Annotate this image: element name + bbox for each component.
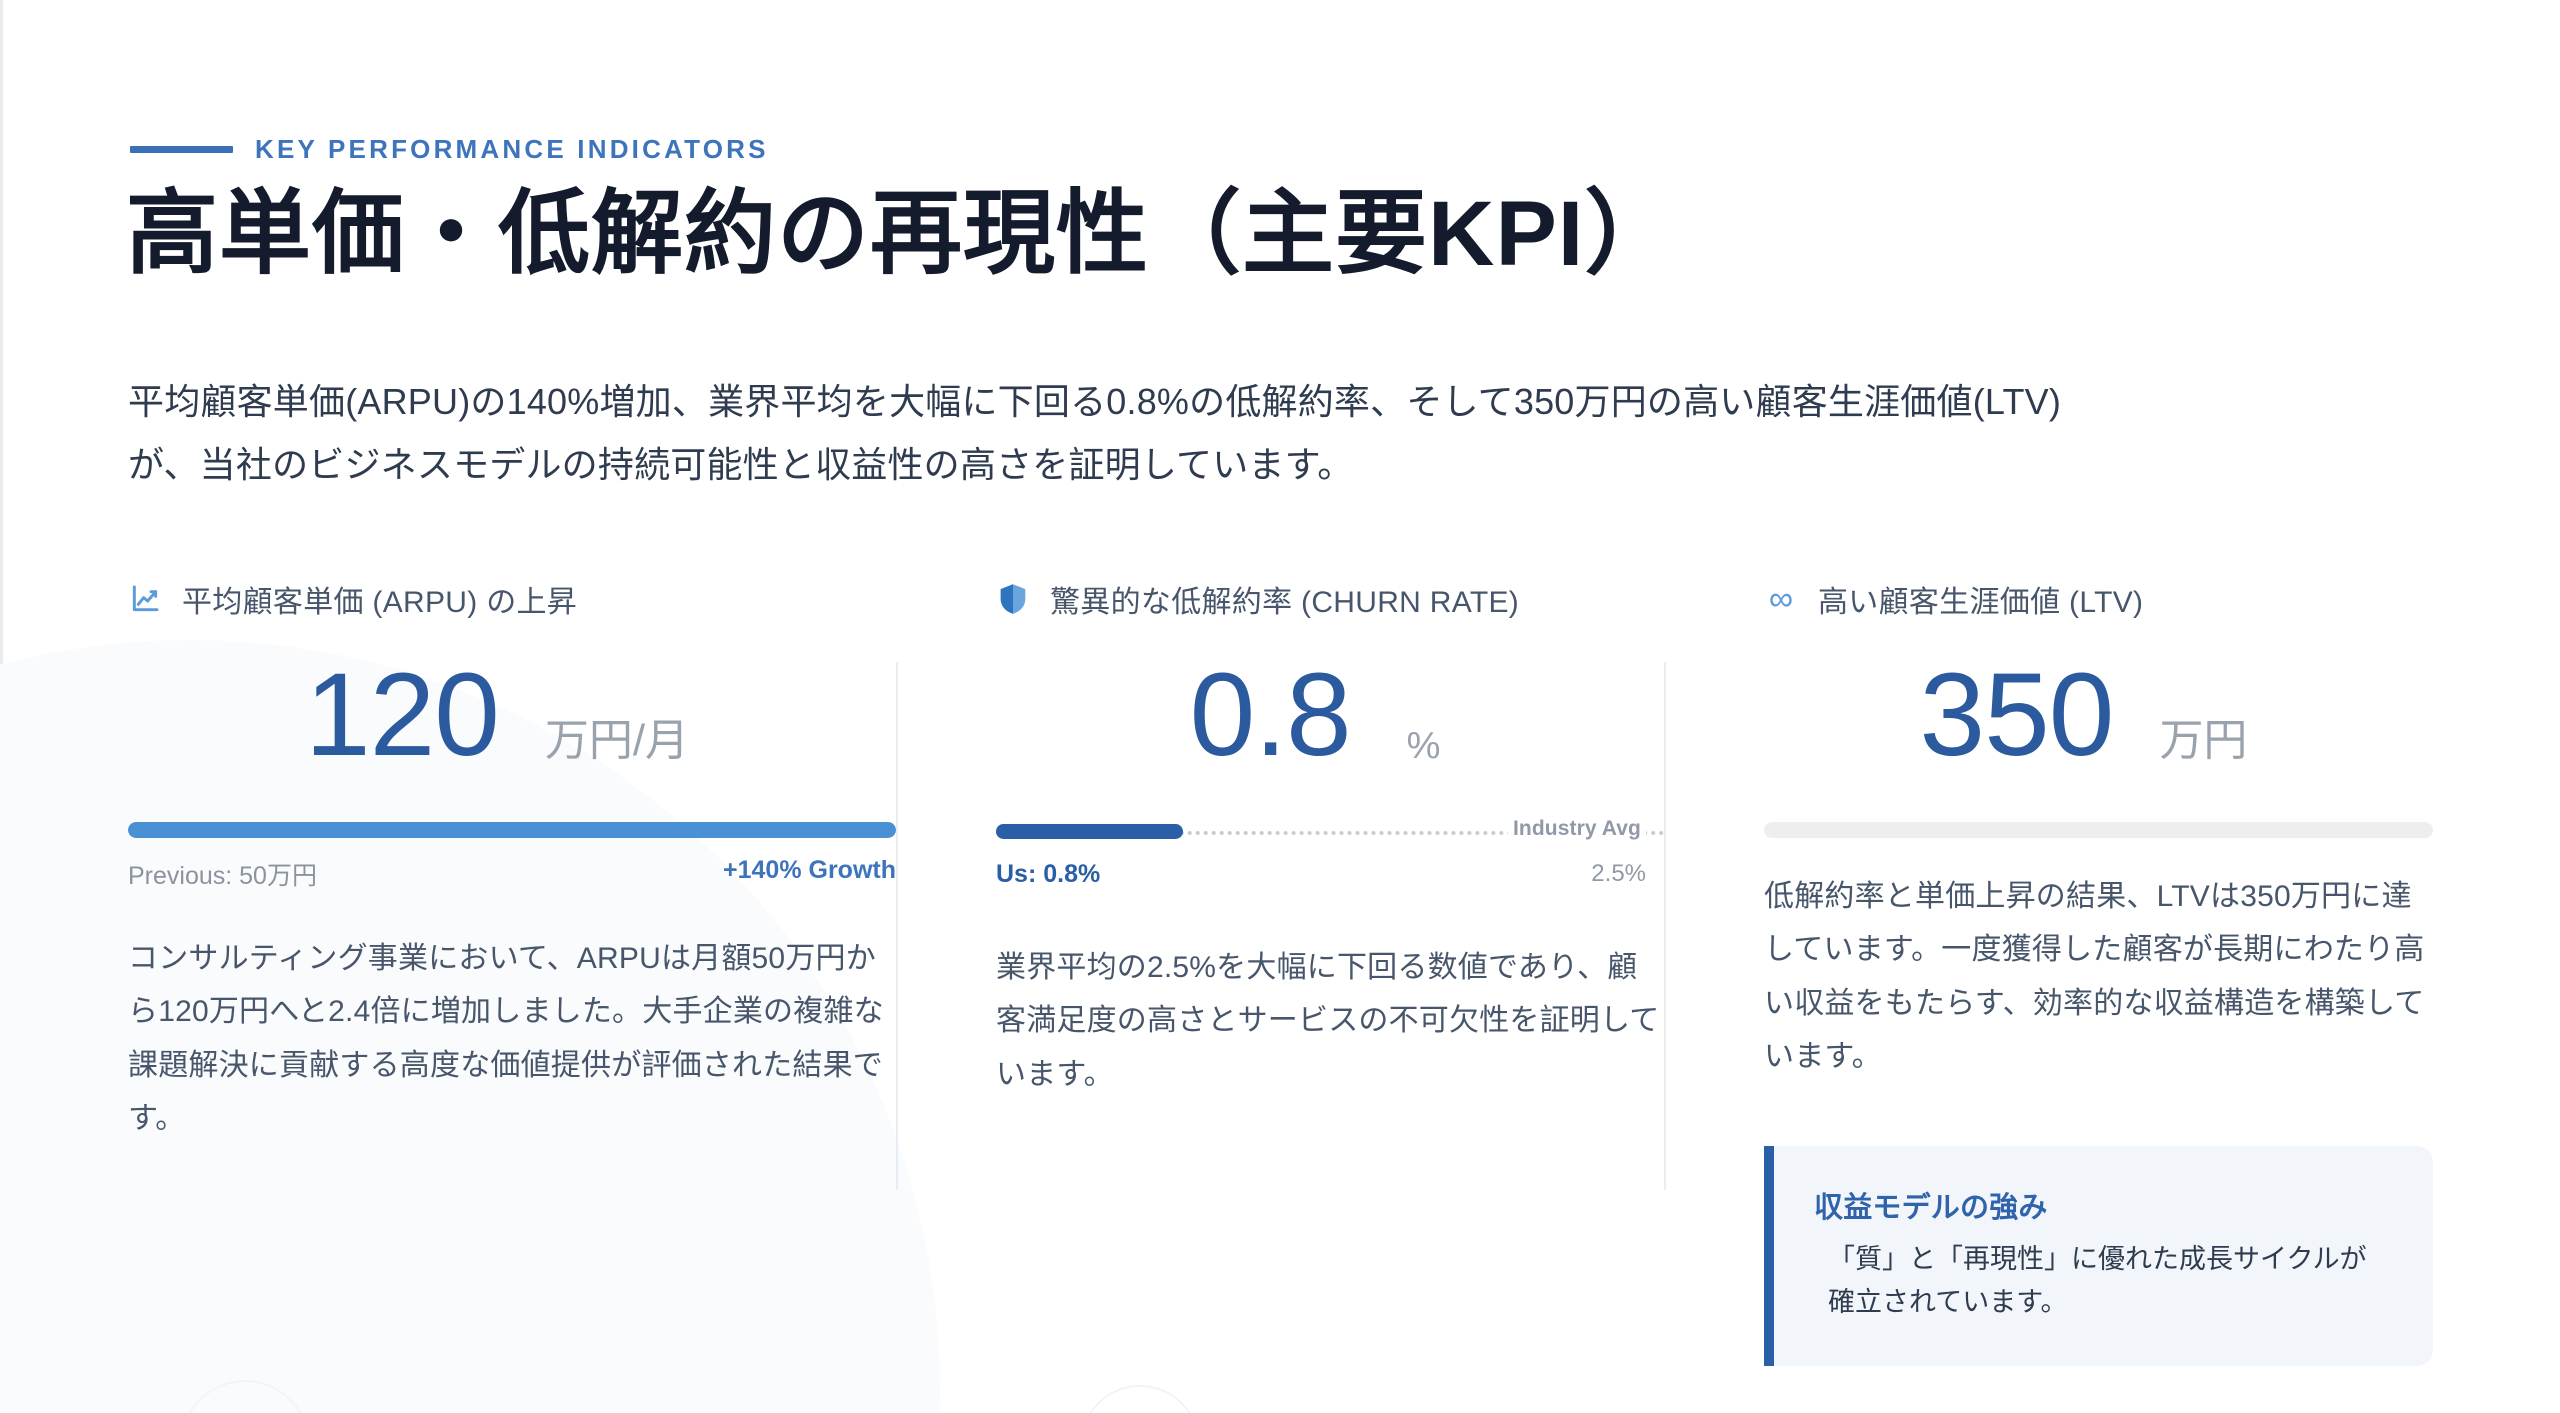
our-churn-label: Us: 0.8% bbox=[996, 860, 1100, 889]
industry-avg-label: Industry Avg bbox=[1508, 817, 1646, 841]
progress-fill bbox=[128, 822, 896, 838]
infinity-icon: ∞ bbox=[1764, 582, 1798, 616]
kpi-card-title: 平均顧客単価 (ARPU) の上昇 bbox=[182, 577, 577, 621]
kpi-progress bbox=[128, 822, 896, 840]
kpi-comparison-legend: Us: 0.8% 2.5% bbox=[996, 860, 1664, 889]
kpi-card-header: 驚異的な低解約率 (CHURN RATE) bbox=[996, 580, 1664, 618]
shield-icon bbox=[996, 582, 1030, 616]
previous-value-label: Previous: 50万円 bbox=[128, 856, 317, 892]
kpi-description: 業界平均の2.5%を大幅に下回る数値であり、顧客満足度の高さとサービスの不可欠性… bbox=[996, 941, 1664, 1101]
kpi-grid: 平均顧客単価 (ARPU) の上昇 120 万円/月 Previous: 50万… bbox=[128, 580, 2433, 1366]
kpi-metric: 0.8 % bbox=[996, 656, 1664, 774]
callout-box: 収益モデルの強み 「質」と「再現性」に優れた成長サイクルが確立されています。 bbox=[1764, 1146, 2433, 1366]
kpi-description: コンサルティング事業において、ARPUは月額50万円から120万円へと2.4倍に… bbox=[128, 932, 896, 1146]
kpi-metric: 350 万円 bbox=[1764, 656, 2433, 774]
kpi-progress bbox=[1764, 822, 2433, 840]
kpi-card-ltv: ∞ 高い顧客生涯価値 (LTV) 350 万円 低解約率と単価上昇の結果、LTV… bbox=[1664, 580, 2433, 1366]
kpi-value: 120 bbox=[305, 656, 499, 774]
kpi-description: 低解約率と単価上昇の結果、LTVは350万円に達しています。一度獲得した顧客が長… bbox=[1764, 870, 2433, 1084]
kpi-card-arpu: 平均顧客単価 (ARPU) の上昇 120 万円/月 Previous: 50万… bbox=[128, 580, 896, 1366]
kpi-card-header: ∞ 高い顧客生涯価値 (LTV) bbox=[1764, 580, 2433, 618]
kpi-comparison-bar: Industry Avg bbox=[996, 822, 1664, 842]
progress-track bbox=[1764, 822, 2433, 838]
growth-label: +140% Growth bbox=[723, 856, 896, 892]
industry-avg-value: 2.5% bbox=[1591, 860, 1664, 889]
kpi-slide: KEY PERFORMANCE INDICATORS 高単価・低解約の再現性（主… bbox=[0, 0, 2560, 1413]
progress-track bbox=[128, 822, 896, 838]
kpi-unit: % bbox=[1407, 725, 1441, 768]
callout-text: 「質」と「再現性」に優れた成長サイクルが確立されています。 bbox=[1814, 1238, 2393, 1324]
kpi-card-churn: 驚異的な低解約率 (CHURN RATE) 0.8 % Industry Avg… bbox=[896, 580, 1664, 1366]
kpi-metric: 120 万円/月 bbox=[128, 656, 896, 774]
kpi-value: 350 bbox=[1920, 656, 2114, 774]
infinity-glyph: ∞ bbox=[1769, 582, 1793, 616]
kpi-value: 0.8 bbox=[1190, 656, 1351, 774]
our-churn-fill bbox=[996, 824, 1183, 839]
callout-title: 収益モデルの強み bbox=[1814, 1184, 2393, 1226]
lead-paragraph: 平均顧客単価(ARPU)の140%増加、業界平均を大幅に下回る0.8%の低解約率… bbox=[128, 370, 2088, 496]
eyebrow: KEY PERFORMANCE INDICATORS bbox=[130, 134, 769, 165]
kpi-card-title: 高い顧客生涯価値 (LTV) bbox=[1818, 577, 2143, 621]
kpi-card-header: 平均顧客単価 (ARPU) の上昇 bbox=[128, 580, 896, 618]
line-chart-icon bbox=[128, 582, 162, 616]
kpi-card-title: 驚異的な低解約率 (CHURN RATE) bbox=[1050, 577, 1519, 621]
page-title: 高単価・低解約の再現性（主要KPI） bbox=[126, 178, 1677, 290]
eyebrow-rule bbox=[130, 146, 233, 153]
eyebrow-label: KEY PERFORMANCE INDICATORS bbox=[255, 134, 769, 165]
kpi-unit: 万円/月 bbox=[545, 704, 689, 768]
kpi-unit: 万円 bbox=[2159, 704, 2247, 768]
kpi-progress-legend: Previous: 50万円 +140% Growth bbox=[128, 856, 896, 892]
